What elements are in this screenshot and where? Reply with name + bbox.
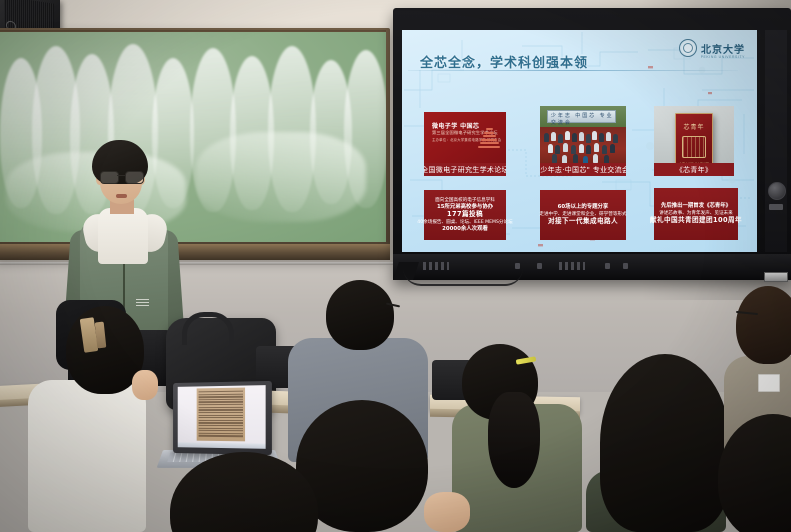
audience-front-center-hand <box>424 492 470 532</box>
audience-front-left-body <box>28 380 146 532</box>
display-side-control-panel[interactable] <box>765 30 787 252</box>
info-line: 60场以上的专题分享 <box>558 204 609 210</box>
presenter-chest-logo-icon <box>136 298 149 306</box>
presentation-slide: 全芯全念，学术科创强本领 北京大学 PEKING UNIVERSITY 微电子学… <box>402 30 757 252</box>
audience-front-left-hand <box>132 370 158 400</box>
info-line: 对接下一代集成电路人 <box>548 218 618 226</box>
info-box-outreach: 60场以上的专题分享 走进中学、走进课堂和企业、研学营等形式 对接下一代集成电路… <box>540 190 626 240</box>
magazine-emblem-icon <box>682 136 706 158</box>
audience-center-head <box>326 280 394 350</box>
slide-title: 全芯全念，学术科创强本领 <box>420 52 588 71</box>
classroom-presentation-photo: 全芯全念，学术科创强本领 北京大学 PEKING UNIVERSITY 微电子学… <box>0 0 791 532</box>
slide-card-magazine: 芯青年 北京大学集成电路学院 《芯青年》 <box>654 106 734 176</box>
laptop-scrollbar[interactable] <box>178 442 266 448</box>
bezel-mark-icon <box>537 263 542 269</box>
display-cable <box>403 268 523 286</box>
audience-khaki-head <box>736 286 791 364</box>
info-line: 40余场报告、圆桌、论坛、IEEE MEMS分论坛 <box>417 220 512 225</box>
backpack-strap <box>182 312 234 345</box>
info-box-anniversary: 先后推出一期首发《芯青年》 讲述芯故事、为青年发声、见证未来 献礼中国共青团建团… <box>654 188 738 240</box>
power-button-icon[interactable] <box>768 182 786 200</box>
info-line: 177篇投稿 <box>447 211 483 219</box>
info-line: 先后推出一期首发《芯青年》 <box>661 203 731 209</box>
panel-label <box>769 204 783 210</box>
pku-seal-icon <box>679 39 697 57</box>
laptop-document-page <box>196 388 245 441</box>
display-screen[interactable]: 全芯全念，学术科创强本领 北京大学 PEKING UNIVERSITY 微电子学… <box>402 30 757 252</box>
bezel-sensor-icon <box>559 262 585 270</box>
card-caption-exchange: "少年志·中国芯" 专业交流会 <box>540 163 626 176</box>
card-caption-magazine: 《芯青年》 <box>654 163 734 176</box>
wall-plate-badge <box>764 272 788 282</box>
slide-card-exchange-photo: 少年志 中国芯 专业交流会 <box>540 106 626 176</box>
pagoda-icon <box>478 128 500 162</box>
bezel-mark-icon <box>623 263 628 269</box>
photo-banner-text: 少年志 中国芯 专业交流会 <box>551 112 615 126</box>
slide-card-forum-poster: 微电子学 中国芯 第三届全国微电子研究生学术论坛 主办单位：北京大学集成电路学院… <box>424 112 506 176</box>
ponytail <box>488 392 540 488</box>
bezel-mark-icon <box>605 263 610 269</box>
presenter-inner-shirt <box>98 208 148 264</box>
info-box-forum-stats: 面向全国高校的电子信息学科 15所兄弟高校参与协办 177篇投稿 40余场报告、… <box>424 190 506 240</box>
presenter-mouth <box>116 194 127 198</box>
audience-long-hair-right <box>600 354 730 532</box>
info-line: 20000余人次观看 <box>442 226 488 232</box>
eyeglasses-icon <box>100 171 144 182</box>
poster-title: 微电子学 中国芯 <box>432 121 479 130</box>
magazine-title: 芯青年 <box>676 122 712 131</box>
card-caption-forum: 全国微电子研究生学术论坛 <box>424 163 506 176</box>
university-name: 北京大学 <box>701 41 745 56</box>
photo-banner: 少年志 中国芯 专业交流会 <box>547 110 616 123</box>
name-tag <box>758 374 780 392</box>
laptop-lid <box>173 381 272 455</box>
slide-title-rule <box>408 70 738 71</box>
info-line: 面向全国高校的电子信息学科 <box>435 198 495 203</box>
university-subtitle: PEKING UNIVERSITY <box>701 55 745 59</box>
interactive-flat-panel[interactable]: 全芯全念，学术科创强本领 北京大学 PEKING UNIVERSITY 微电子学… <box>393 8 791 280</box>
info-line: 献礼中国共青团建团100周年 <box>650 217 742 225</box>
laptop-screen[interactable] <box>178 385 266 449</box>
